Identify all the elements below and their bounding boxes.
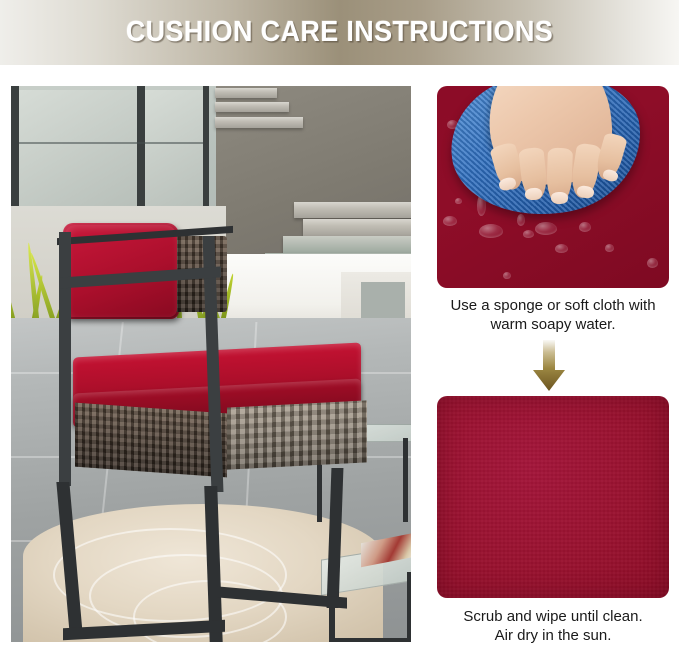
- coffee-table-leg: [407, 572, 411, 642]
- coffee-table-rail: [329, 638, 411, 642]
- step-two-photo: [437, 396, 669, 598]
- step-one-caption-line-1: Use a sponge or soft cloth with: [431, 296, 675, 315]
- stair-step: [303, 219, 411, 236]
- step-two-caption-line-1: Scrub and wipe until clean.: [431, 607, 675, 626]
- step-two-caption: Scrub and wipe until clean. Air dry in t…: [431, 607, 675, 645]
- step-one-photo: [437, 86, 669, 288]
- arrow-down-icon: [531, 340, 567, 392]
- stair-step: [294, 202, 411, 218]
- stair-step: [215, 88, 277, 98]
- side-table-leg: [403, 438, 408, 522]
- water-droplet: [579, 222, 591, 232]
- water-droplet: [535, 222, 557, 235]
- chair-seat-wicker-right: [227, 400, 367, 469]
- chair-arm-post-left: [59, 232, 71, 486]
- page-title: CUSHION CARE INSTRUCTIONS: [24, 0, 655, 65]
- water-droplet: [443, 216, 457, 226]
- chair-seat-wicker-left: [75, 403, 227, 478]
- header-banner: CUSHION CARE INSTRUCTIONS: [0, 0, 679, 65]
- water-droplet: [555, 244, 568, 253]
- stair-step: [283, 236, 411, 254]
- water-droplet: [479, 224, 503, 238]
- water-droplet: [523, 230, 534, 238]
- stair-step: [215, 117, 303, 128]
- water-droplet: [605, 244, 614, 252]
- window-transom: [19, 142, 203, 144]
- step-two-caption-line-2: Air dry in the sun.: [431, 626, 675, 645]
- stair-step: [215, 102, 289, 112]
- water-droplet: [517, 214, 525, 226]
- fingernail: [551, 192, 568, 205]
- water-droplet: [647, 258, 658, 268]
- water-droplet: [503, 272, 511, 279]
- step-one-caption-line-2: warm soapy water.: [431, 315, 675, 334]
- step-one-caption: Use a sponge or soft cloth with warm soa…: [431, 296, 675, 334]
- outdoor-chair-photo: EASY TO CLEAN: [11, 86, 411, 642]
- water-droplet: [455, 198, 462, 204]
